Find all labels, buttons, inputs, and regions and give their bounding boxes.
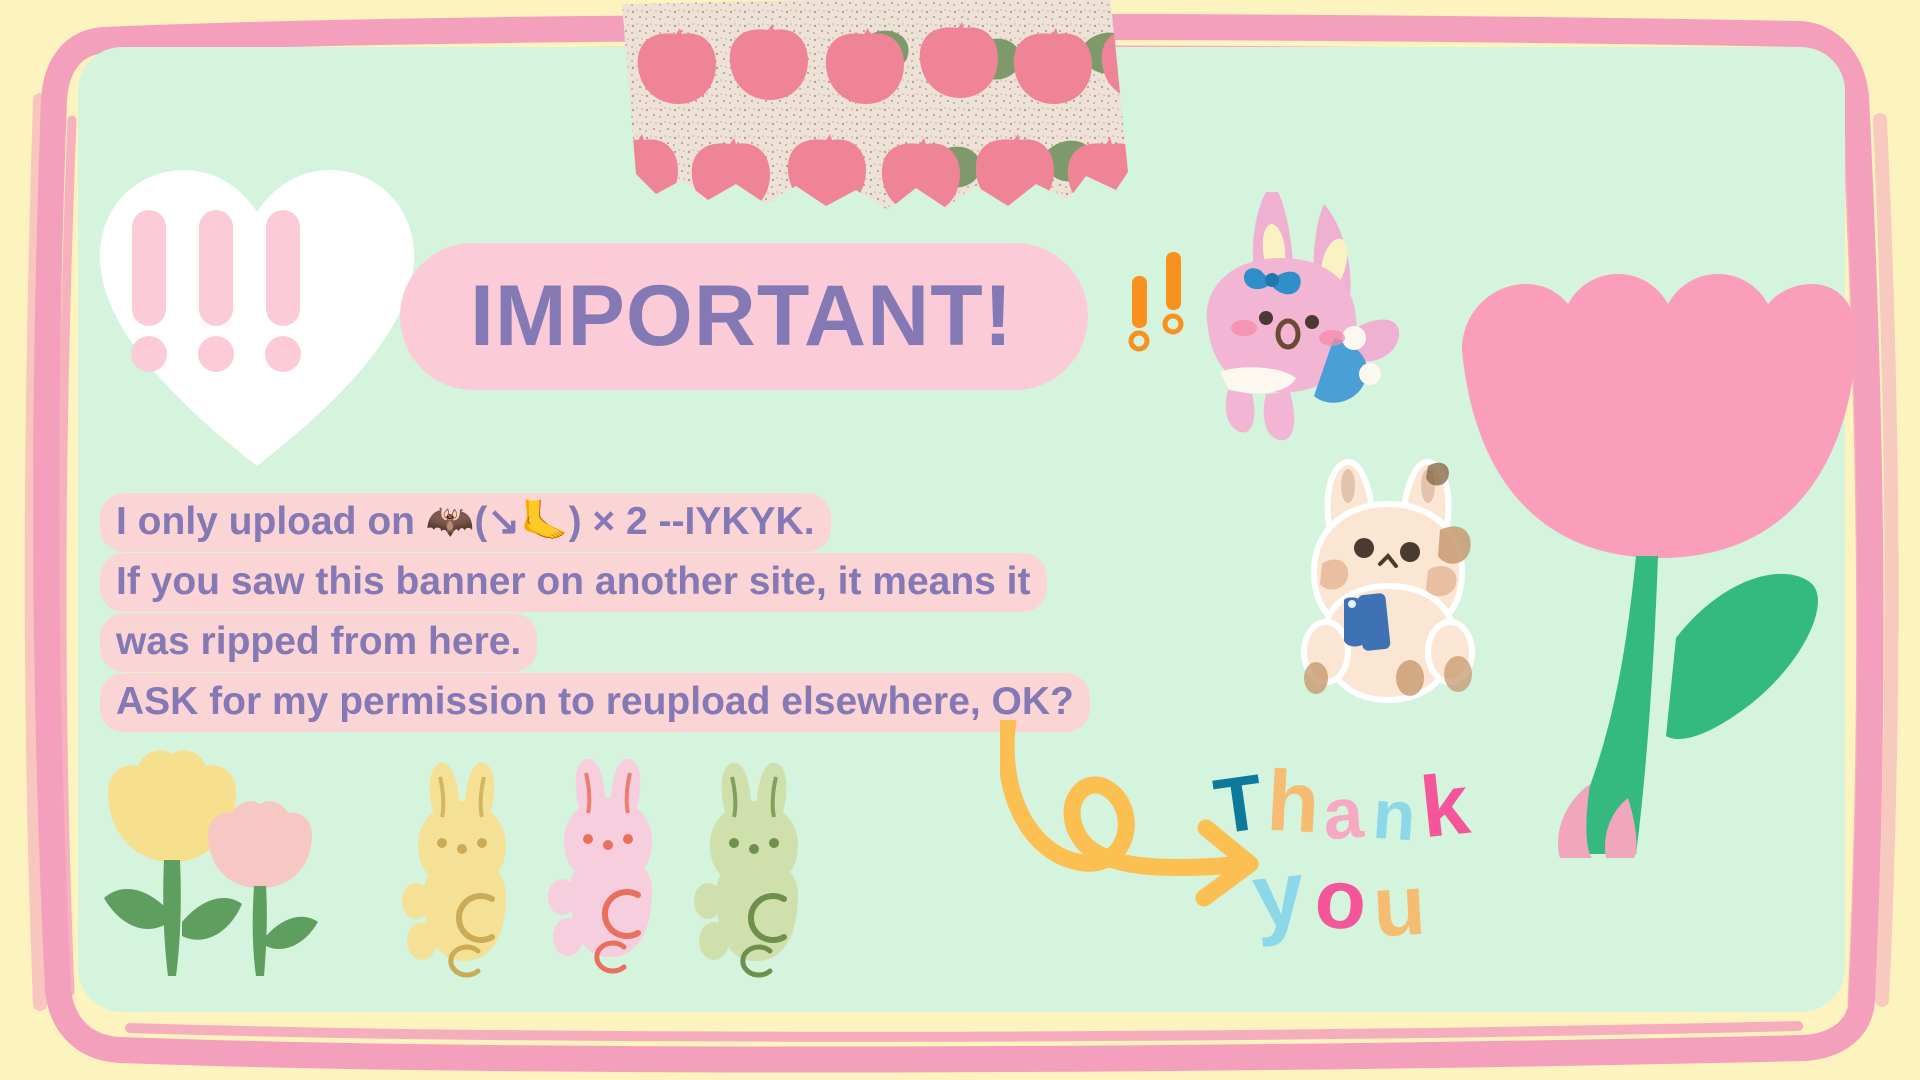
thank-you-lettering: T h a n k y o u bbox=[1215, 765, 1515, 965]
ty-letter-y: y bbox=[1248, 841, 1310, 951]
tulip-washi-tape bbox=[616, 0, 1234, 219]
pink-bunny-cookie bbox=[548, 759, 652, 971]
ty-letter-o: o bbox=[1312, 849, 1370, 949]
notice-line-1: I only upload on 🦇(↘🦶) × 2 --IYKYK. bbox=[100, 492, 1180, 552]
ty-letter-u: u bbox=[1370, 856, 1428, 958]
flying-bunny-sticker bbox=[1148, 178, 1408, 448]
ty-letter-T: T bbox=[1209, 756, 1269, 853]
notice-line-2: If you saw this banner on another site, … bbox=[100, 552, 1180, 612]
notice-line-3: was ripped from here. bbox=[100, 612, 1180, 672]
ty-letter-k: k bbox=[1416, 755, 1474, 858]
ty-letter-a: a bbox=[1320, 772, 1366, 857]
heart-exclamation-marks bbox=[92, 148, 422, 478]
page-title: IMPORTANT! bbox=[470, 261, 1090, 371]
yellow-bunny-cookie bbox=[402, 763, 506, 975]
bunny-cookie-row bbox=[400, 745, 820, 995]
small-tulip-pair bbox=[90, 740, 340, 980]
ty-letter-n: n bbox=[1370, 774, 1418, 857]
ty-letter-h: h bbox=[1264, 752, 1322, 854]
green-bunny-cookie bbox=[694, 763, 798, 975]
notice-text-block: I only upload on 🦇(↘🦶) × 2 --IYKYK. If y… bbox=[100, 492, 1180, 732]
banner-canvas: IMPORTANT! I only upload on 🦇(↘🦶) × 2 --… bbox=[0, 0, 1920, 1080]
